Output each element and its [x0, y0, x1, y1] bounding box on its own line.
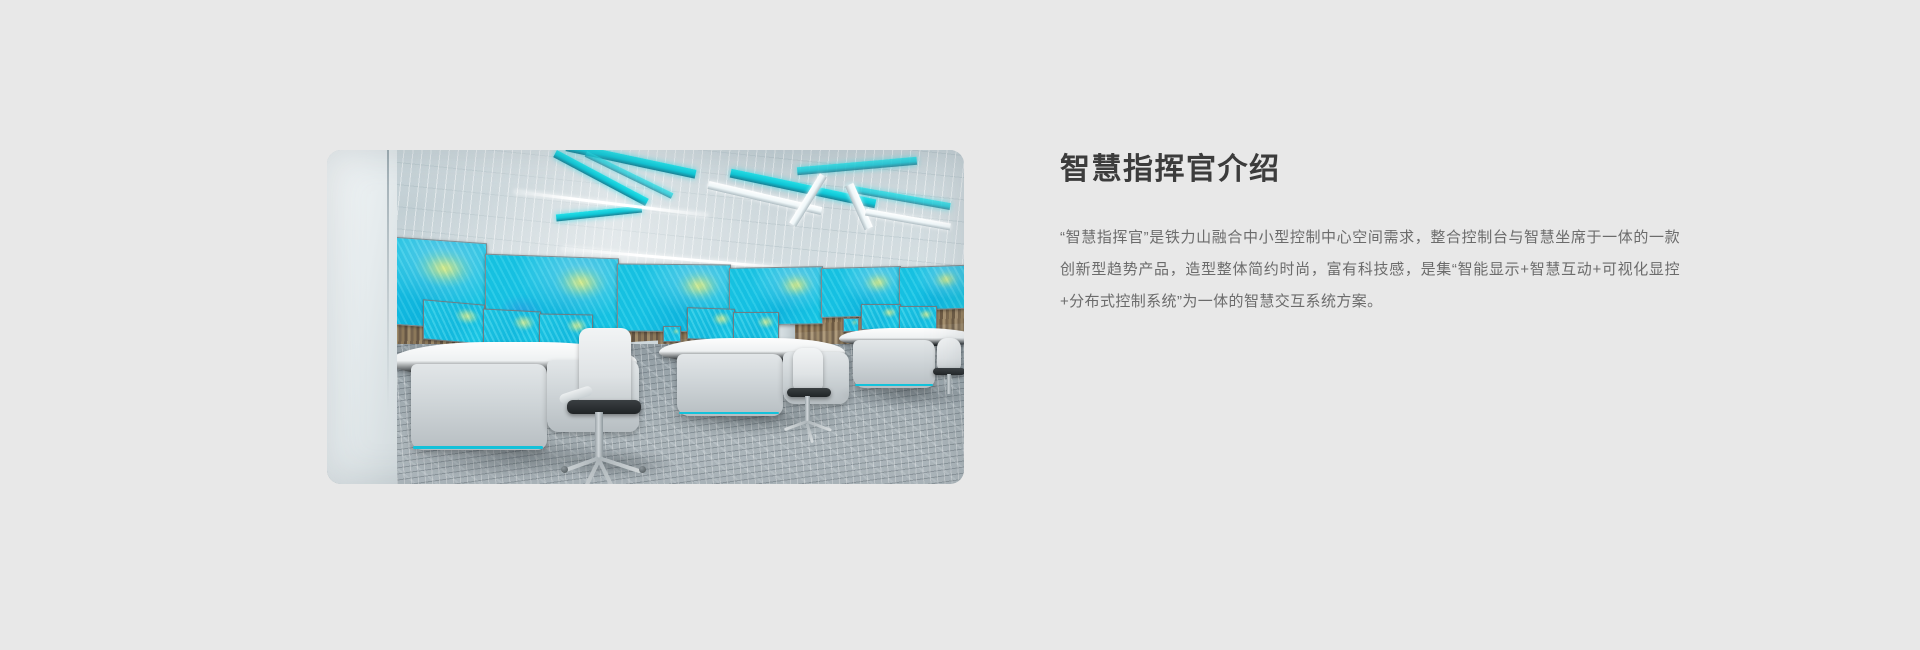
- monitor-graphic: [452, 304, 482, 328]
- monitor-graphic: [510, 312, 538, 333]
- chair-caster-2: [561, 466, 568, 473]
- desk-monitor-front-1: [423, 299, 485, 344]
- chair-gas-lift: [595, 412, 603, 458]
- intro-paragraph: “智慧指挥官”是铁力山融合中小型控制中心空间需求，整合控制台与智慧坐席于一体的一…: [1060, 222, 1680, 318]
- screen-graphic-highlight: [547, 258, 616, 306]
- monitor-graphic: [710, 310, 733, 327]
- monitor-graphic: [672, 328, 680, 336]
- chair-gas-lift-far: [947, 374, 951, 394]
- monitor-graphic: [851, 319, 858, 326]
- screen-graphic-highlight: [929, 267, 962, 293]
- product-intro-section: 智慧指挥官介绍 “智慧指挥官”是铁力山融合中小型控制中心空间需求，整合控制台与智…: [327, 150, 1597, 490]
- page-title: 智慧指挥官介绍: [1060, 152, 1680, 188]
- screen-graphic-highlight: [406, 240, 483, 295]
- desk-monitor-far-1: [861, 304, 901, 330]
- monitor-graphic: [755, 314, 777, 329]
- console-base-far: [853, 340, 935, 388]
- console-base-front: [411, 364, 547, 450]
- chair-gas-lift-mid: [805, 396, 810, 422]
- photo-canvas: [327, 150, 964, 484]
- chair-backrest-mid: [793, 348, 823, 392]
- screen-graphic-highlight: [670, 266, 728, 305]
- console-accent-mid: [679, 412, 779, 414]
- page-root: 智慧指挥官介绍 “智慧指挥官”是铁力山融合中小型控制中心空间需求，整合控制台与智…: [0, 0, 1920, 650]
- chair-backrest-far: [937, 338, 961, 372]
- screen-graphic-highlight: [858, 268, 899, 297]
- console-accent-far: [855, 384, 933, 386]
- control-room-photo[interactable]: [327, 150, 964, 484]
- console-accent-front: [413, 446, 543, 449]
- desk-monitor-mid-1: [687, 307, 735, 341]
- monitor-graphic: [880, 306, 899, 319]
- console-base-mid: [677, 354, 783, 416]
- left-wall-edge: [387, 150, 389, 411]
- video-wall-screen-6: [899, 265, 964, 311]
- intro-text-column: 智慧指挥官介绍 “智慧指挥官”是铁力山融合中小型控制中心空间需求，整合控制台与智…: [964, 150, 1680, 318]
- desk-monitor-mid-3: [663, 326, 681, 342]
- screen-graphic-highlight: [772, 268, 820, 301]
- chair-caster-1: [639, 466, 646, 473]
- chair-seat: [567, 400, 641, 414]
- monitor-graphic: [917, 308, 935, 321]
